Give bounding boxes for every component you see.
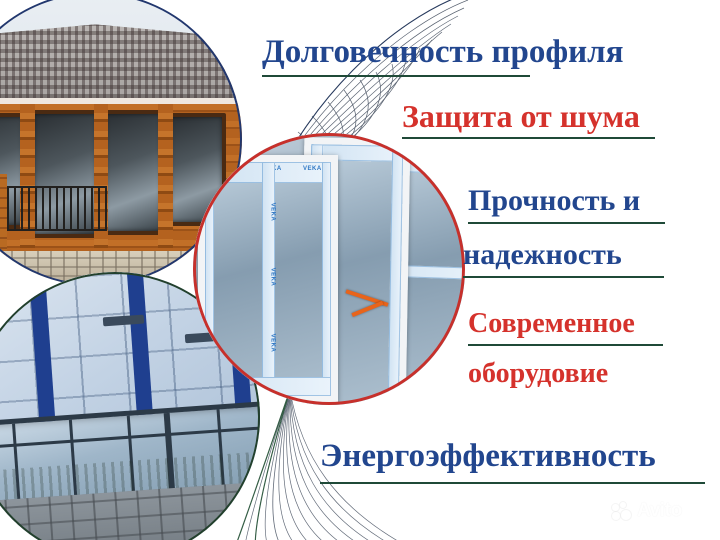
benefit-text-equipment: оборудовие — [468, 360, 608, 388]
windows-photo: VEKA VEKA VEKA VEKA VEKA VEKA VEKA VEKA … — [193, 133, 465, 405]
benefit-underline-noise — [402, 137, 655, 139]
benefit-text-reliability: надежность — [463, 240, 622, 270]
benefit-underline-reliability — [463, 276, 664, 278]
benefit-underline-strength — [468, 222, 665, 224]
benefit-underline-durability — [262, 75, 530, 77]
benefit-underline-modern — [468, 344, 663, 346]
benefit-text-noise: Защита от шума — [402, 100, 640, 132]
photo-circle-windows: VEKA VEKA VEKA VEKA VEKA VEKA VEKA VEKA … — [193, 133, 465, 405]
benefit-text-strength: Прочность и — [468, 186, 640, 216]
benefit-text-durability: Долговечность профиля — [262, 36, 624, 69]
avito-watermark: Avito — [612, 500, 682, 522]
benefit-underline-energy — [320, 482, 705, 484]
avito-logo-icon — [612, 502, 634, 520]
advert-canvas: VEKA VEKA VEKA VEKA VEKA VEKA VEKA VEKA … — [0, 0, 720, 540]
avito-wordmark: Avito — [637, 500, 682, 522]
benefit-text-modern: Современное — [468, 310, 635, 338]
benefit-text-energy: Энергоэффективность — [320, 440, 656, 473]
